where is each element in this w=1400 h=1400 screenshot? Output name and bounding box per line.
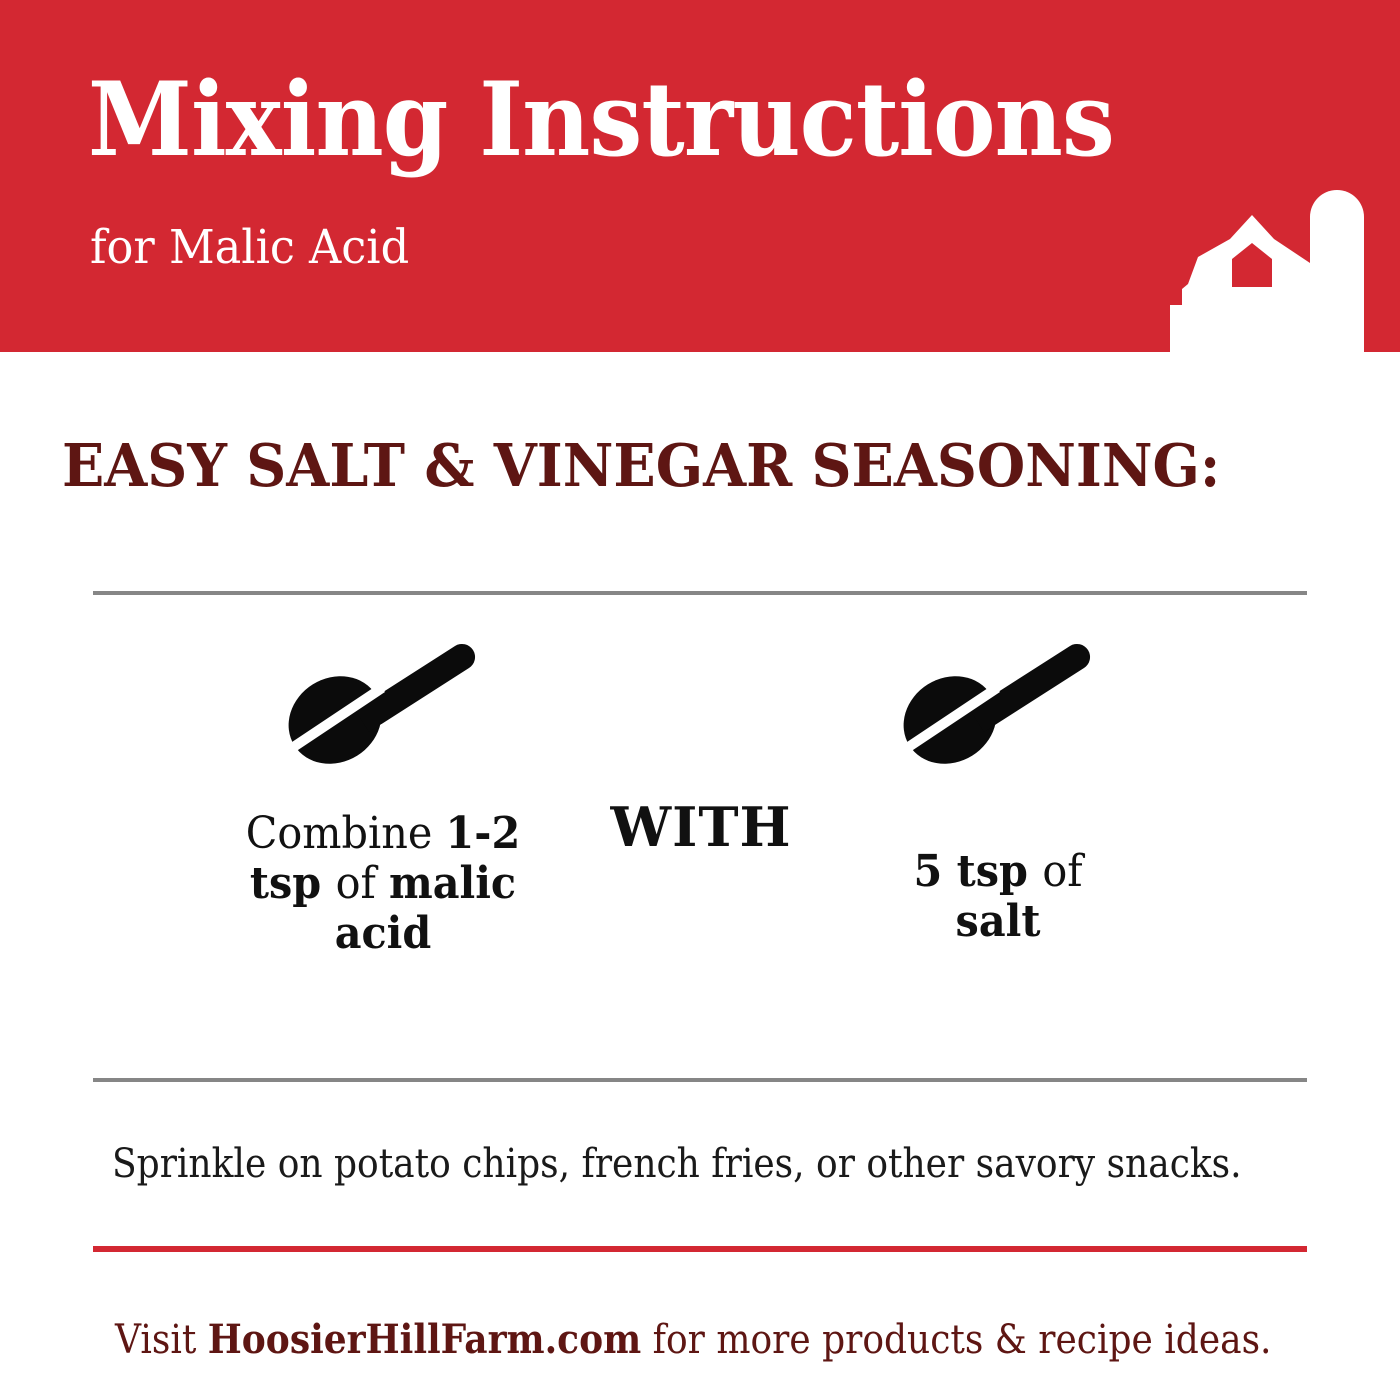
- ingredient-left-caption: Combine 1-2 tsp of malic acid: [204, 809, 561, 959]
- footer-website-link[interactable]: HoosierHillFarm.com: [208, 1316, 641, 1363]
- footer-tail-text: for more products & recipe ideas.: [641, 1317, 1271, 1363]
- page-subtitle: for Malic Acid: [90, 222, 409, 274]
- header-banner: Mixing Instructions for Malic Acid: [0, 0, 1400, 352]
- measuring-spoon-icon: [808, 620, 1188, 785]
- right-ingredient: salt: [956, 896, 1041, 947]
- divider-red: [93, 1246, 1307, 1252]
- usage-note: Sprinkle on potato chips, french fries, …: [112, 1140, 1192, 1188]
- footer-note: Visit HoosierHillFarm.com for more produ…: [115, 1316, 1213, 1364]
- page-title: Mixing Instructions: [88, 68, 1114, 172]
- section-heading: EASY SALT & VINEGAR SEASONING:: [62, 434, 1220, 498]
- connector-label: WITH: [591, 798, 811, 856]
- ingredient-right: 5 tsp of salt: [808, 620, 1188, 947]
- left-of: of: [336, 858, 389, 909]
- ingredient-right-caption: 5 tsp of salt: [819, 847, 1176, 947]
- right-of: of: [1042, 846, 1082, 897]
- right-amount: 5 tsp: [913, 846, 1042, 897]
- instruction-card: Mixing Instructions for Malic Acid EASY …: [0, 0, 1400, 1400]
- divider-bottom: [93, 1078, 1307, 1082]
- mixing-ratio-row: Combine 1-2 tsp of malic acid WITH 5 tsp…: [93, 620, 1307, 1060]
- left-verb: Combine: [246, 808, 446, 859]
- measuring-spoon-icon: [193, 620, 573, 785]
- footer-visit-text: Visit: [115, 1317, 208, 1363]
- ingredient-left: Combine 1-2 tsp of malic acid: [193, 620, 573, 959]
- barn-silo-icon: [1160, 177, 1400, 352]
- divider-top: [93, 591, 1307, 595]
